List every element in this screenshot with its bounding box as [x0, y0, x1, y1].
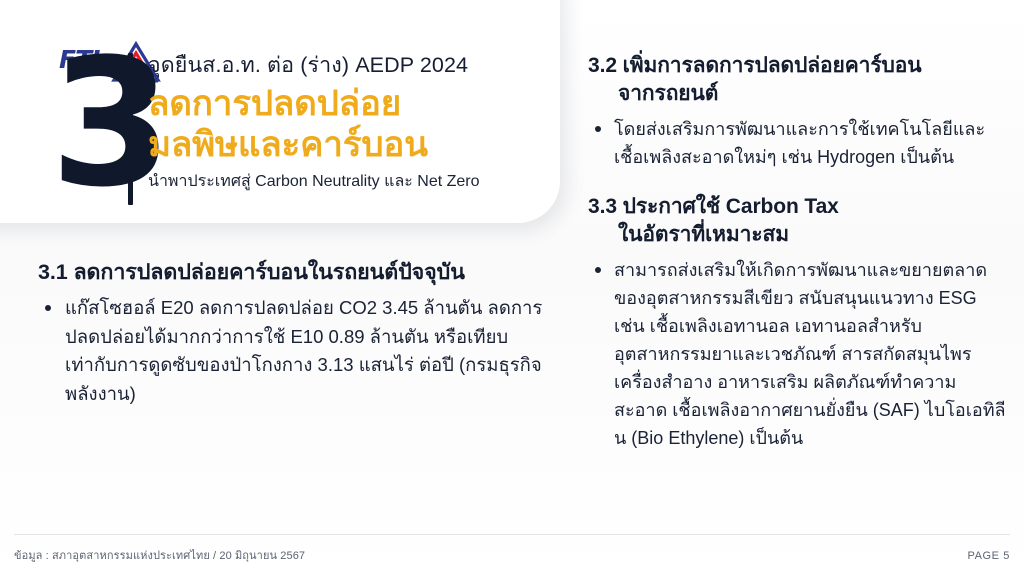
left-column: 3.1 ลดการปลดปล่อยคาร์บอนในรถยนต์ปัจจุบัน…	[38, 258, 548, 408]
bullet-dot-icon	[595, 267, 601, 273]
bullet-dot-icon	[595, 126, 601, 132]
list-item: โดยส่งเสริมการพัฒนาและการใช้เทคโนโลยีและ…	[588, 115, 1008, 171]
section-3-2-heading-line-1: 3.2 เพิ่มการลดการปลดปล่อยคาร์บอน	[588, 54, 922, 77]
header-title-line-2: มลพิษและคาร์บอน	[148, 124, 548, 165]
section-3-3-bullet-list: สามารถส่งเสริมให้เกิดการพัฒนาและขยายตลาด…	[588, 256, 1008, 452]
bullet-dot-icon	[45, 305, 51, 311]
right-column: 3.2 เพิ่มการลดการปลดปล่อยคาร์บอน จากรถยน…	[588, 52, 1008, 452]
section-3-2-bullet-list: โดยส่งเสริมการพัฒนาและการใช้เทคโนโลยีและ…	[588, 115, 1008, 171]
section-3-3-heading-line-1: 3.3 ประกาศใช้ Carbon Tax	[588, 195, 839, 218]
slide-canvas: FTI 3 จุดยืนส.อ.ท. ต่อ (ร่าง) AEDP 2024 …	[0, 0, 1024, 576]
section-3-1-heading: 3.1 ลดการปลดปล่อยคาร์บอนในรถยนต์ปัจจุบัน	[38, 258, 548, 287]
header-divider-rule	[128, 53, 133, 205]
section-3-3-heading: 3.3 ประกาศใช้ Carbon Tax ในอัตราที่เหมาะ…	[588, 193, 1008, 249]
section-3-1-bullet-list: แก๊สโซฮอล์ E20 ลดการปลดปล่อย CO2 3.45 ล้…	[38, 294, 548, 408]
header-text-block: จุดยืนส.อ.ท. ต่อ (ร่าง) AEDP 2024 ลดการป…	[148, 50, 548, 193]
section-3-3-heading-line-2: ในอัตราที่เหมาะสม	[588, 221, 1008, 249]
page-number: PAGE 5	[967, 549, 1010, 563]
list-item-text: สามารถส่งเสริมให้เกิดการพัฒนาและขยายตลาด…	[614, 260, 1006, 448]
header-subtitle: นำพาประเทศสู่ Carbon Neutrality และ Net …	[148, 171, 548, 193]
header-eyebrow: จุดยืนส.อ.ท. ต่อ (ร่าง) AEDP 2024	[148, 50, 548, 80]
list-item: แก๊สโซฮอล์ E20 ลดการปลดปล่อย CO2 3.45 ล้…	[38, 294, 548, 408]
header-title: ลดการปลดปล่อย มลพิษและคาร์บอน	[148, 83, 548, 165]
section-3-2-heading-line-2: จากรถยนต์	[588, 80, 1008, 108]
list-item-text: แก๊สโซฮอล์ E20 ลดการปลดปล่อย CO2 3.45 ล้…	[65, 297, 542, 404]
section-3-2-heading: 3.2 เพิ่มการลดการปลดปล่อยคาร์บอน จากรถยน…	[588, 52, 1008, 108]
list-item: สามารถส่งเสริมให้เกิดการพัฒนาและขยายตลาด…	[588, 256, 1008, 452]
header-title-line-1: ลดการปลดปล่อย	[148, 83, 548, 124]
list-item-text: โดยส่งเสริมการพัฒนาและการใช้เทคโนโลยีและ…	[614, 119, 985, 167]
footer-divider	[14, 534, 1010, 535]
footer-source-text: ข้อมูล : สภาอุตสาหกรรมแห่งประเทศไทย / 20…	[14, 549, 305, 563]
